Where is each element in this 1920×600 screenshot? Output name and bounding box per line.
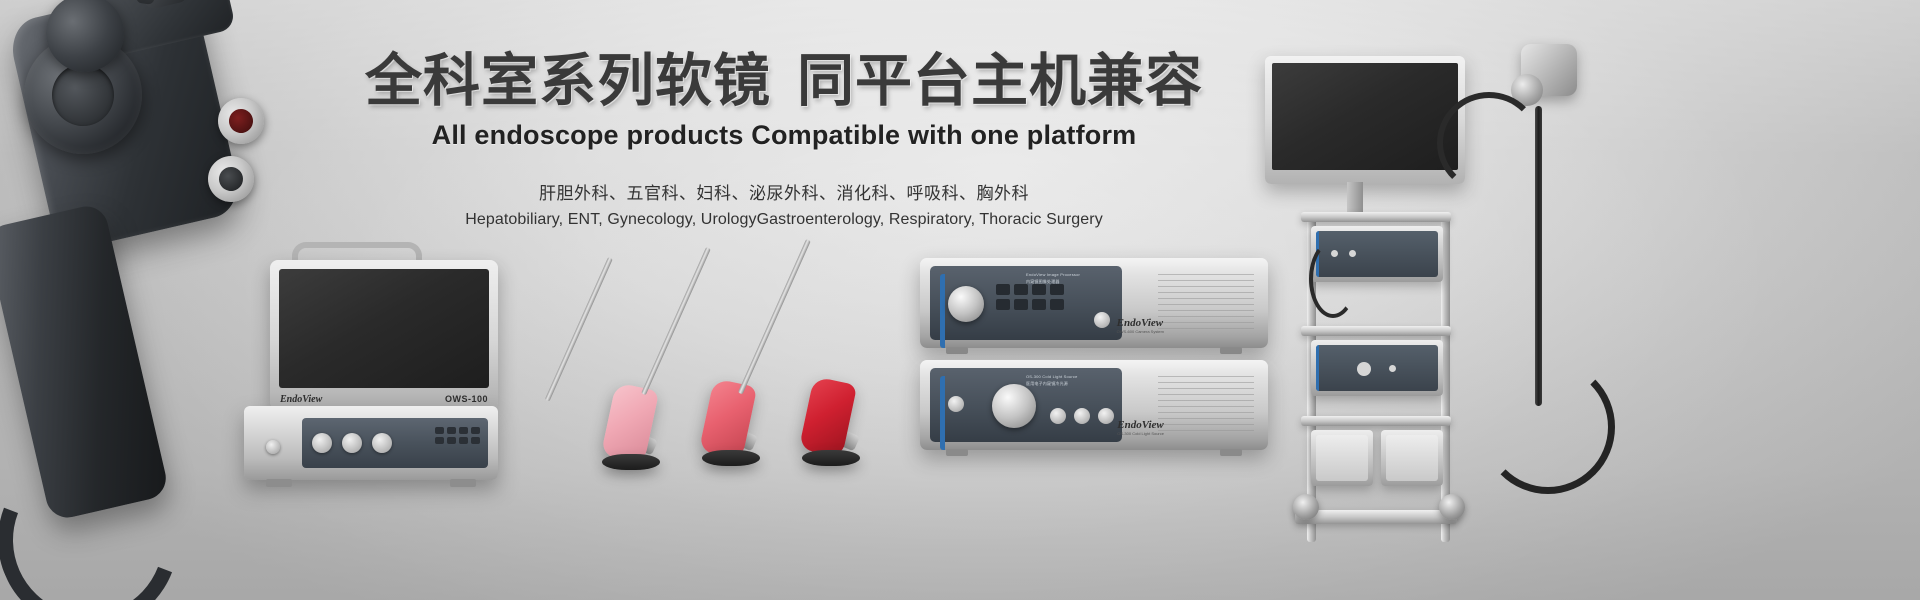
processor-foot-right <box>1220 347 1242 354</box>
light-source-title-cn: 医用电子内窥镜冷光源 <box>1026 381 1068 387</box>
cart-shelf-middle <box>1301 326 1451 336</box>
light-source-front-panel: OS-300 Cold Light Source 医用电子内窥镜冷光源 <box>930 368 1122 442</box>
cart-wheel-left <box>1293 494 1319 520</box>
banner-text-block: 全科室系列软镜同平台主机兼容 All endoscope products Co… <box>0 50 1568 229</box>
light-module-front-panel <box>1316 345 1438 391</box>
workstation-display-bezel: EndoView OWS-100 <box>270 260 498 410</box>
processor-title-cn: 内窥镜图像处理器 <box>1026 279 1060 285</box>
light-source-title-en: OS-300 Cold Light Source <box>1026 374 1078 379</box>
workstation-screen <box>279 269 489 388</box>
cart-shelf-lower <box>1301 416 1451 426</box>
scope-tube-loop <box>1481 360 1615 494</box>
cart-base-platform <box>1295 510 1457 524</box>
light-source-accent-bar <box>940 376 945 450</box>
processor-main-knob <box>948 286 984 322</box>
accessory-module-left <box>1311 430 1373 486</box>
processor-title-en: EndoView Image Processor <box>1026 272 1080 277</box>
light-source-btn-1 <box>1050 408 1066 424</box>
light-source-sub-label: OS-300 Cold Light Source <box>1117 431 1164 436</box>
workstation-control-panel <box>302 418 488 468</box>
light-source-vent-grille <box>1158 376 1254 434</box>
processor-brand-block: EndoView OWS-600 Camera System <box>1117 317 1164 334</box>
headline-part-2: 同平台主机兼容 <box>797 49 1203 113</box>
headline-part-1: 全科室系列软镜 <box>365 49 771 113</box>
rigid-instrument-red <box>706 240 876 490</box>
workstation-foot-left <box>266 479 292 487</box>
light-source-brand-block: EndoView OS-300 Cold Light Source <box>1117 419 1164 436</box>
workstation-brand-row: EndoView OWS-100 <box>280 391 488 407</box>
light-module-button <box>1389 365 1396 372</box>
workstation-side-knob <box>266 440 280 454</box>
accessory-right-panel <box>1386 435 1438 481</box>
processor-small-knob <box>1094 312 1110 328</box>
accessory-module-right <box>1381 430 1443 486</box>
light-source-small-knob <box>948 396 964 412</box>
specialties-chinese: 肝胆外科、五官科、妇科、泌尿外科、消化科、呼吸科、胸外科 <box>0 179 1568 204</box>
processor-front-panel: EndoView Image Processor 内窥镜图像处理器 <box>930 266 1122 340</box>
cart-cable <box>1309 240 1357 318</box>
instrument-shaft <box>545 257 613 402</box>
specialties-english: Hepatobiliary, ENT, Gynecology, UrologyG… <box>0 211 1568 229</box>
endoscopy-product-banner: EndoView OWS-100 <box>0 0 1920 600</box>
workstation-knob-2 <box>342 433 362 453</box>
workstation-knob-3 <box>372 433 392 453</box>
workstation-model-label: OWS-100 <box>445 394 488 404</box>
light-source-module <box>1311 340 1443 396</box>
processor-foot-left <box>946 347 968 354</box>
processor-accent-bar <box>940 274 945 348</box>
accessory-left-panel <box>1316 435 1368 481</box>
processor-brand-label: EndoView <box>1117 317 1164 329</box>
light-source-foot-right <box>1220 449 1242 456</box>
light-module-knob <box>1357 362 1371 376</box>
workstation-foot-right <box>450 479 476 487</box>
instrument-shaft <box>641 247 711 395</box>
workstation-base <box>244 406 498 480</box>
light-source-brightness-knob <box>992 384 1036 428</box>
cold-light-source-unit: OS-300 Cold Light Source 医用电子内窥镜冷光源 Endo… <box>920 360 1268 450</box>
processor-sub-label: OWS-600 Camera System <box>1117 329 1164 334</box>
image-processor-unit: EndoView Image Processor 内窥镜图像处理器 EndoVi… <box>920 258 1268 348</box>
light-source-btn-3 <box>1098 408 1114 424</box>
portable-endoscopy-workstation: EndoView OWS-100 <box>238 246 498 496</box>
workstation-knob-1 <box>312 433 332 453</box>
light-source-btn-2 <box>1074 408 1090 424</box>
light-source-foot-left <box>946 449 968 456</box>
processor-vent-grille <box>1158 274 1254 332</box>
workstation-keypad <box>435 427 480 444</box>
page-subtitle: All endoscope products Compatible with o… <box>0 120 1568 151</box>
instrument-shaft <box>738 239 811 395</box>
instrument-stand <box>802 450 860 466</box>
page-title: 全科室系列软镜同平台主机兼容 <box>0 50 1568 114</box>
processor-button-row <box>996 284 1064 310</box>
workstation-brand-label: EndoView <box>280 394 322 405</box>
light-source-brand-label: EndoView <box>1117 419 1164 431</box>
stacked-processor-units: EndoView Image Processor 内窥镜图像处理器 EndoVi… <box>920 258 1270 458</box>
